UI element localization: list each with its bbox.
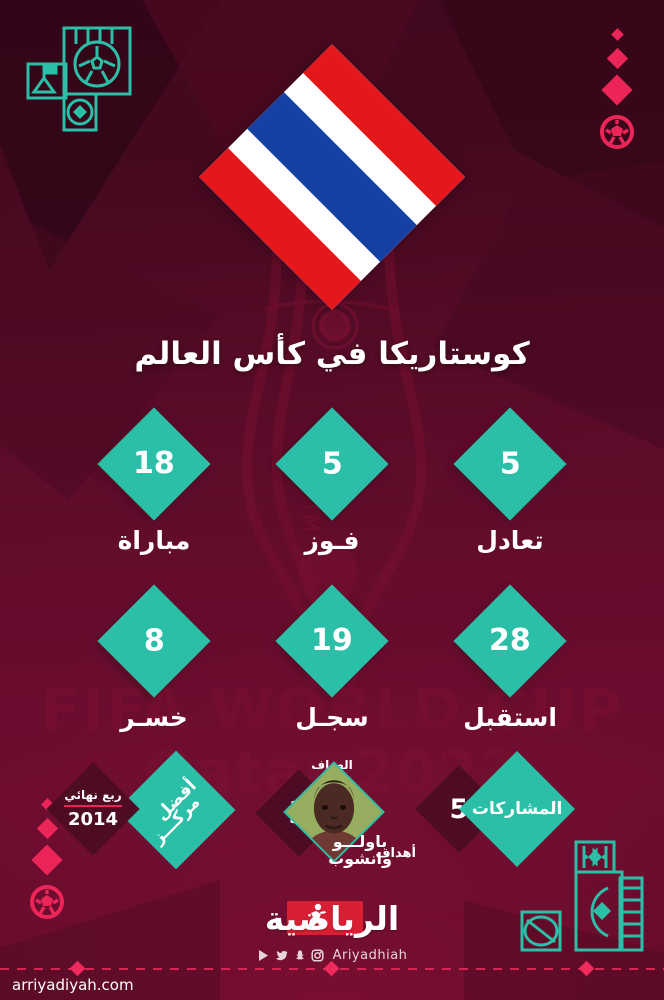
- stat-label: مباراة: [99, 526, 209, 555]
- decorative-diamond: [601, 74, 632, 105]
- page-title: كوستاريكا في كأس العالم: [0, 336, 664, 372]
- stat-goals-conceded: 28 استقبل: [455, 601, 565, 732]
- footer-diamond: [324, 961, 340, 977]
- top-scorer-block: الهداف 3 أهداف: [242, 758, 422, 873]
- stat-draws: 5 تعادل: [455, 424, 565, 555]
- stat-losses: 8 خسـر: [99, 601, 209, 732]
- stat-participations: 5 المشاركات: [416, 758, 566, 873]
- footer-diamond: [579, 961, 595, 977]
- stat-label: خسـر: [99, 703, 209, 732]
- best-position-year: 2014: [60, 809, 126, 830]
- football-icon: [600, 115, 634, 149]
- stat-label: استقبل: [455, 703, 565, 732]
- footer: arriyadiyah.com: [0, 960, 664, 1000]
- decorative-diamond: [611, 28, 624, 41]
- stats-row-2: 8 خسـر 19 سجـل 28 استقبل: [0, 601, 664, 732]
- country-flag-diamond: [238, 83, 426, 271]
- stat-best-position: أفضل مركـــز ربع نهائي 2014: [96, 758, 256, 873]
- participations-label-diamond: المشاركات: [459, 751, 575, 867]
- best-position-round: ربع نهائي: [60, 788, 126, 802]
- infographic-canvas: TM FIFA WORLD CUP Qatar 2022: [0, 0, 664, 1000]
- stat-label: فـوز: [277, 526, 387, 555]
- diamonds-and-ball-motif: [594, 30, 640, 149]
- stat-value-diamond: 18: [97, 407, 210, 520]
- footer-url: arriyadiyah.com: [12, 976, 134, 994]
- stat-value: 8: [144, 626, 165, 656]
- brand-logo[interactable]: الرياضية: [265, 896, 399, 941]
- stat-value: 28: [489, 626, 531, 656]
- stat-label: تعادل: [455, 526, 565, 555]
- stat-value: 18: [133, 449, 175, 479]
- stat-goals-scored: 19 سجـل: [277, 601, 387, 732]
- footer-diamond: [70, 961, 86, 977]
- top-scorer-name-line-2: وانشوب: [300, 851, 420, 868]
- stat-value: 5: [500, 449, 521, 479]
- stat-value-diamond: 5: [275, 407, 388, 520]
- stat-value-diamond: 28: [453, 584, 566, 697]
- stats-row-1: 18 مباراة 5 فـوز 5 تعادل: [0, 424, 664, 555]
- stat-value-diamond: 19: [275, 584, 388, 697]
- football-badge-icons: [18, 26, 138, 134]
- decorative-diamond: [606, 48, 627, 69]
- stat-label: سجـل: [277, 703, 387, 732]
- stat-value-diamond: 8: [97, 584, 210, 697]
- brand-block: الرياضية Ariyadhiah: [0, 896, 664, 963]
- divider: [64, 805, 122, 807]
- best-position-label: أفضل مركـــز: [147, 790, 206, 830]
- stat-value-diamond: 5: [453, 407, 566, 520]
- stat-wins: 5 فـوز: [277, 424, 387, 555]
- stat-value: 5: [322, 449, 343, 479]
- participations-label: المشاركات: [472, 799, 562, 819]
- top-scorer-name: باولـــو وانشوب: [300, 834, 420, 868]
- best-position-value-diamond: ربع نهائي 2014: [46, 762, 139, 855]
- brand-logo-word: الرياضية: [265, 899, 399, 938]
- stat-matches: 18 مباراة: [99, 424, 209, 555]
- stat-value: 19: [311, 626, 353, 656]
- runner-icon: [305, 903, 327, 933]
- bottom-stats-row: 5 المشاركات الهداف 3: [0, 758, 664, 873]
